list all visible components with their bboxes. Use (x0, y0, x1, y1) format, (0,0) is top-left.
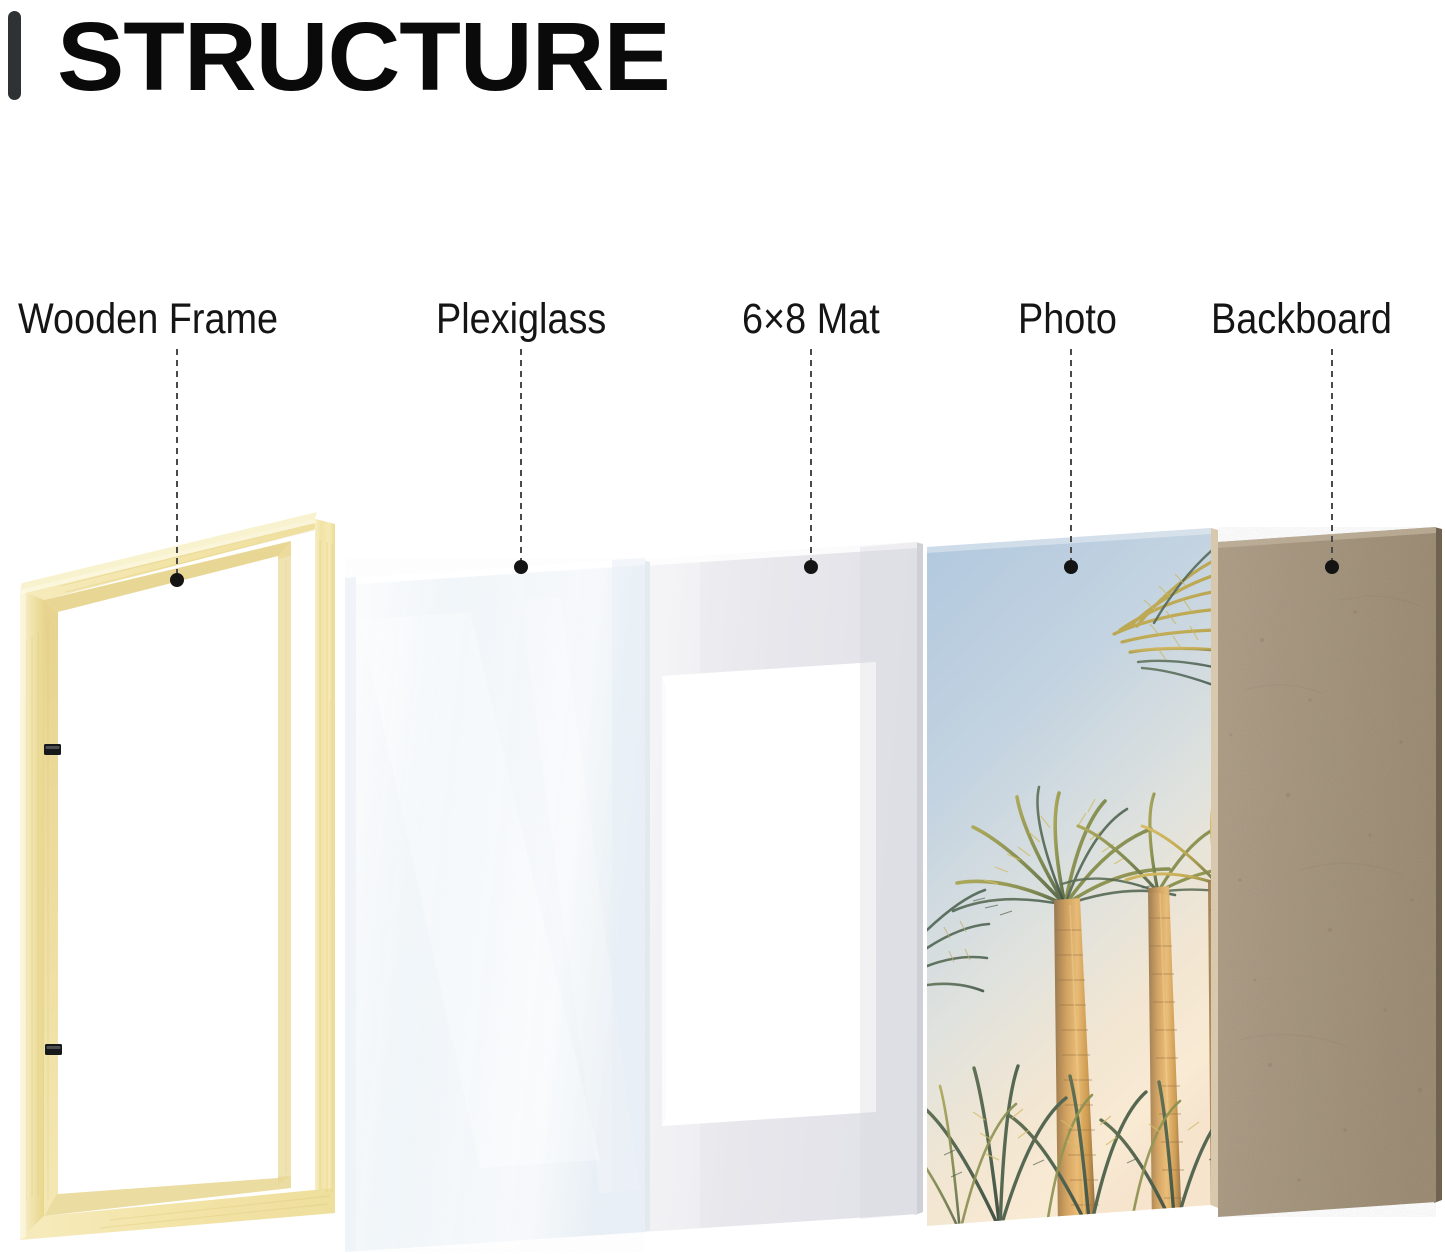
wooden-frame-layer (20, 512, 335, 1240)
leader-line-plexiglass (520, 349, 522, 564)
frame-clip-lower (45, 1044, 62, 1055)
layer-label-mat: 6×8 Mat (742, 295, 880, 343)
leader-dot-backboard (1325, 560, 1339, 574)
leader-line-backboard (1331, 349, 1333, 564)
exploded-assembly-diagram (0, 0, 1445, 1254)
layer-label-photo: Photo (1018, 295, 1117, 343)
photo-layer (890, 520, 1258, 1235)
backboard-layer (1218, 527, 1442, 1217)
layer-label-backboard: Backboard (1211, 295, 1392, 343)
layer-label-plexiglass: Plexiglass (436, 295, 606, 343)
leader-dot-wooden-frame (170, 573, 184, 587)
leader-dot-plexiglass (514, 560, 528, 574)
layer-label-wooden-frame: Wooden Frame (18, 295, 278, 343)
leader-line-mat (810, 349, 812, 564)
mat-board-layer (642, 542, 923, 1232)
frame-clip-upper (44, 744, 61, 755)
leader-dot-mat (804, 560, 818, 574)
leader-dot-photo (1064, 560, 1078, 574)
plexiglass-layer (345, 558, 650, 1252)
leader-line-wooden-frame (176, 349, 178, 577)
leader-line-photo (1070, 349, 1072, 564)
